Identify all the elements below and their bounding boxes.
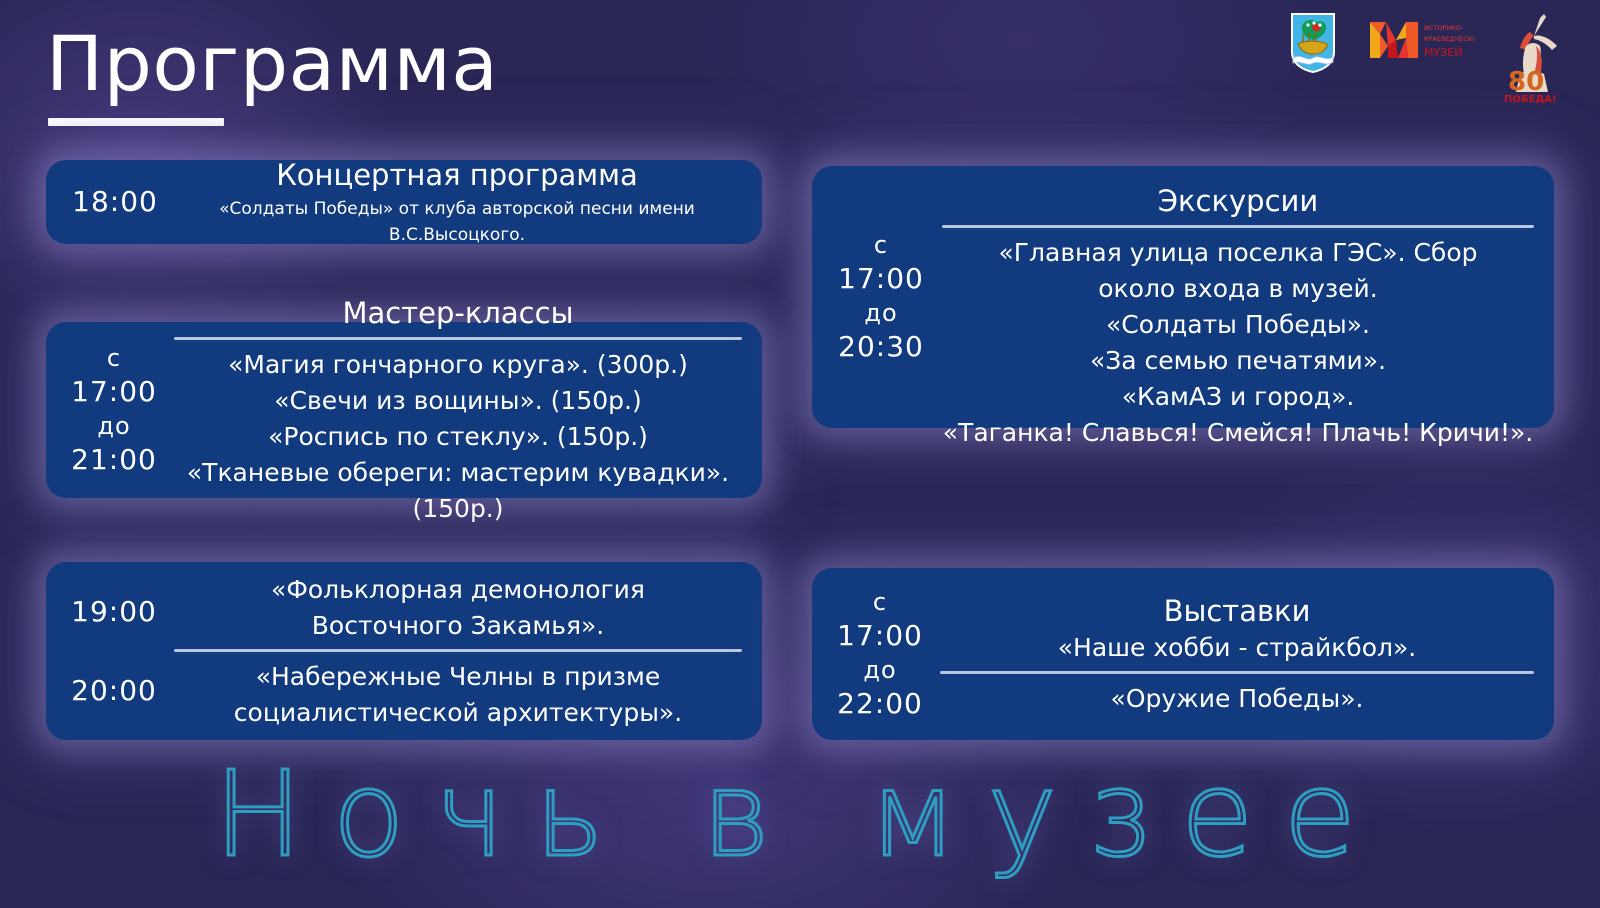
event-wordmark: Ночь в музее <box>0 748 1600 880</box>
excursion-item: «Главная улица поселка ГЭС». Сбор <box>936 235 1540 271</box>
lecture-title-line: Восточного Закамья». <box>168 608 748 644</box>
lecture-title-line: «Набережные Челны в призме <box>168 659 748 695</box>
master-classes-from-time: 17:00 <box>60 374 168 410</box>
exhibitions-time-column: с 17:00 до 22:00 <box>826 586 934 722</box>
svg-text:80: 80 <box>1508 67 1544 97</box>
excursion-item: «КамАЗ и город». <box>936 379 1540 415</box>
exhibitions-to-label: до <box>826 654 934 686</box>
master-classes-item: «Тканевые обереги: мастерим кувадки». (1… <box>168 455 748 527</box>
concert-time: 18:00 <box>60 184 170 220</box>
exhibitions-from-label: с <box>826 586 934 618</box>
svg-text:ПОБЕДА!: ПОБЕДА! <box>1504 94 1557 104</box>
master-classes-divider <box>174 337 742 340</box>
excursions-from-time: 17:00 <box>826 261 936 297</box>
excursions-to-label: до <box>826 297 936 329</box>
card-concert: 18:00 Концертная программа «Солдаты Побе… <box>46 160 762 244</box>
master-classes-item: «Свечи из вощины». (150р.) <box>168 383 748 419</box>
concert-subtitle: «Солдаты Победы» от клуба авторской песн… <box>170 196 744 248</box>
lecture-title-line: социалистической архитектуры». <box>168 695 748 731</box>
svg-text:КРАЕВЕДЧЕСКИЙ: КРАЕВЕДЧЕСКИЙ <box>1424 34 1474 43</box>
master-classes-to-label: до <box>60 410 168 442</box>
excursions-from-label: с <box>826 229 936 261</box>
card-master-classes: с 17:00 до 21:00 Мастер-классы «Магия го… <box>46 322 762 498</box>
excursions-divider <box>942 225 1534 228</box>
master-classes-item: «Роспись по стеклу». (150р.) <box>168 419 748 455</box>
city-coat-of-arms-icon <box>1290 12 1336 79</box>
excursions-to-time: 20:30 <box>826 329 936 365</box>
concert-body: Концертная программа «Солдаты Победы» от… <box>170 156 748 248</box>
concert-title: Концертная программа <box>170 156 744 194</box>
master-classes-body: Мастер-классы «Магия гончарного круга». … <box>168 294 748 527</box>
museum-logo-icon: ИСТОРИКО- КРАЕВЕДЧЕСКИЙ МУЗЕЙ <box>1362 12 1474 73</box>
lecture-title-line: «Фольклорная демонология <box>168 572 748 608</box>
exhibitions-body: Выставки «Наше хобби - страйкбол». «Оруж… <box>934 592 1540 717</box>
excursion-item: «Солдаты Победы». <box>936 307 1540 343</box>
logo-group: ИСТОРИКО- КРАЕВЕДЧЕСКИЙ МУЗЕЙ 80 ПОБЕДА! <box>1290 12 1562 109</box>
master-classes-time-column: с 17:00 до 21:00 <box>60 342 168 478</box>
lectures-time-column: 19:00 20:00 <box>60 572 168 730</box>
svg-text:ИСТОРИКО-: ИСТОРИКО- <box>1424 24 1464 32</box>
exhibitions-to-time: 22:00 <box>826 686 934 722</box>
excursions-body: Экскурсии «Главная улица поселка ГЭС». С… <box>936 176 1540 451</box>
title-underline <box>48 118 224 126</box>
excursion-item: «Таганка! Славься! Смейся! Плачь! Кричи!… <box>936 415 1540 451</box>
card-excursions: с 17:00 до 20:30 Экскурсии «Главная улиц… <box>812 166 1554 428</box>
master-classes-from-label: с <box>60 342 168 374</box>
exhibitions-divider <box>940 671 1534 674</box>
lectures-divider <box>174 649 742 652</box>
lecture-time: 20:00 <box>60 673 168 709</box>
exhibition-item: «Оружие Победы». <box>934 681 1540 717</box>
exhibition-item: «Наше хобби - страйкбол». <box>934 630 1540 666</box>
lectures-body: «Фольклорная демонология Восточного Зака… <box>168 572 748 731</box>
victory-80-logo-icon: 80 ПОБЕДА! <box>1500 12 1562 109</box>
excursions-title: Экскурсии <box>936 182 1540 220</box>
master-classes-to-time: 21:00 <box>60 442 168 478</box>
excursion-item: «За семью печатями». <box>936 343 1540 379</box>
lecture-time: 19:00 <box>60 594 168 630</box>
exhibitions-title: Выставки <box>934 592 1540 630</box>
card-lectures: 19:00 20:00 «Фольклорная демонология Вос… <box>46 562 762 740</box>
excursions-time-column: с 17:00 до 20:30 <box>826 229 936 365</box>
exhibitions-from-time: 17:00 <box>826 618 934 654</box>
master-classes-title: Мастер-классы <box>168 294 748 332</box>
excursion-item: около входа в музей. <box>936 271 1540 307</box>
page-title: Программа <box>46 22 498 106</box>
svg-text:МУЗЕЙ: МУЗЕЙ <box>1424 46 1462 59</box>
concert-time-column: 18:00 <box>60 184 170 220</box>
master-classes-item: «Магия гончарного круга». (300р.) <box>168 347 748 383</box>
card-exhibitions: с 17:00 до 22:00 Выставки «Наше хобби - … <box>812 568 1554 740</box>
